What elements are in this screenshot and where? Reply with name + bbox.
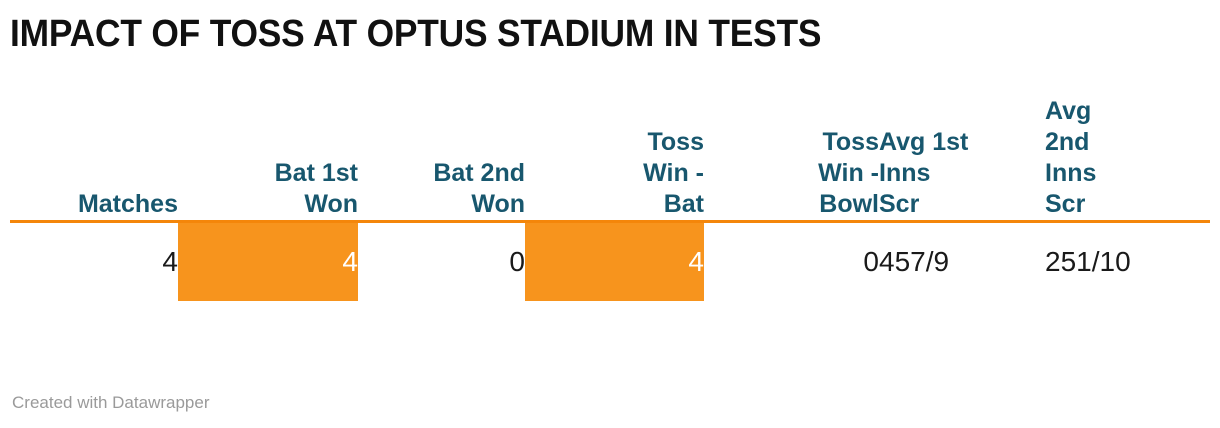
column-header-toss-win-bowl-line3: Bowl — [819, 190, 879, 218]
column-header-avg-2nd-inns-scr-line4: Scr — [1045, 190, 1085, 218]
cell-toss-win-bat: 4 — [525, 222, 704, 302]
column-header-bat-2nd-won-line2: Won — [471, 190, 525, 218]
column-header-avg-1st-inns-scr-line3: Scr — [879, 190, 919, 218]
column-header-avg-2nd-inns-scr-line1: Avg — [1045, 97, 1091, 125]
cell-avg-1st-inns-scr-value: 457/9 — [879, 223, 1045, 301]
chart-title: IMPACT OF TOSS AT OPTUS STADIUM IN TESTS — [10, 12, 1126, 56]
cell-bat-1st-won-value: 4 — [178, 223, 358, 301]
column-header-toss-win-bat-line1: Toss — [648, 128, 705, 156]
column-header-bat-1st-won-line1: Bat 1st — [275, 159, 358, 187]
table-header-row: Matches Bat 1st Won Bat 2nd Won Toss Win… — [10, 96, 1210, 222]
column-header-avg-2nd-inns-scr[interactable]: Avg 2nd Inns Scr — [1045, 96, 1210, 222]
cell-avg-2nd-inns-scr-value: 251/10 — [1045, 223, 1210, 301]
column-header-toss-win-bat[interactable]: Toss Win - Bat — [525, 96, 704, 222]
column-header-avg-2nd-inns-scr-line2: 2nd — [1045, 128, 1089, 156]
cell-toss-win-bowl: 0 — [704, 222, 879, 302]
cell-toss-win-bat-value: 4 — [525, 223, 704, 301]
column-header-matches-line1: Matches — [78, 190, 178, 218]
cell-avg-1st-inns-scr: 457/9 — [879, 222, 1045, 302]
datawrapper-credit[interactable]: Created with Datawrapper — [12, 392, 209, 414]
column-header-toss-win-bowl[interactable]: Toss Win - Bowl — [704, 96, 879, 222]
column-header-toss-win-bowl-line2: Win - — [818, 159, 879, 187]
column-header-avg-2nd-inns-scr-line3: Inns — [1045, 159, 1096, 187]
column-header-matches[interactable]: Matches — [10, 96, 178, 222]
table-row: 4 4 0 4 0 457/9 — [10, 222, 1210, 302]
cell-bat-2nd-won: 0 — [358, 222, 525, 302]
column-header-toss-win-bat-line2: Win - — [643, 159, 704, 187]
cell-bat-1st-won: 4 — [178, 222, 358, 302]
column-header-avg-1st-inns-scr-line2: Inns — [879, 159, 930, 187]
column-header-bat-1st-won-line2: Won — [304, 190, 358, 218]
cell-matches: 4 — [10, 222, 178, 302]
column-header-bat-1st-won[interactable]: Bat 1st Won — [178, 96, 358, 222]
cell-bat-2nd-won-value: 0 — [358, 223, 525, 301]
data-table: Matches Bat 1st Won Bat 2nd Won Toss Win… — [10, 96, 1210, 301]
column-header-avg-1st-inns-scr-line1: Avg 1st — [879, 128, 968, 156]
column-header-avg-1st-inns-scr[interactable]: Avg 1st Inns Scr — [879, 96, 1045, 222]
column-header-toss-win-bat-line3: Bat — [664, 190, 704, 218]
table-container: Matches Bat 1st Won Bat 2nd Won Toss Win… — [10, 96, 1210, 301]
column-header-bat-2nd-won[interactable]: Bat 2nd Won — [358, 96, 525, 222]
column-header-bat-2nd-won-line1: Bat 2nd — [433, 159, 525, 187]
cell-toss-win-bowl-value: 0 — [704, 223, 879, 301]
cell-matches-value: 4 — [10, 223, 178, 301]
cell-avg-2nd-inns-scr: 251/10 — [1045, 222, 1210, 302]
datawrapper-table-chart: IMPACT OF TOSS AT OPTUS STADIUM IN TESTS… — [0, 0, 1220, 428]
column-header-toss-win-bowl-line1: Toss — [823, 128, 880, 156]
